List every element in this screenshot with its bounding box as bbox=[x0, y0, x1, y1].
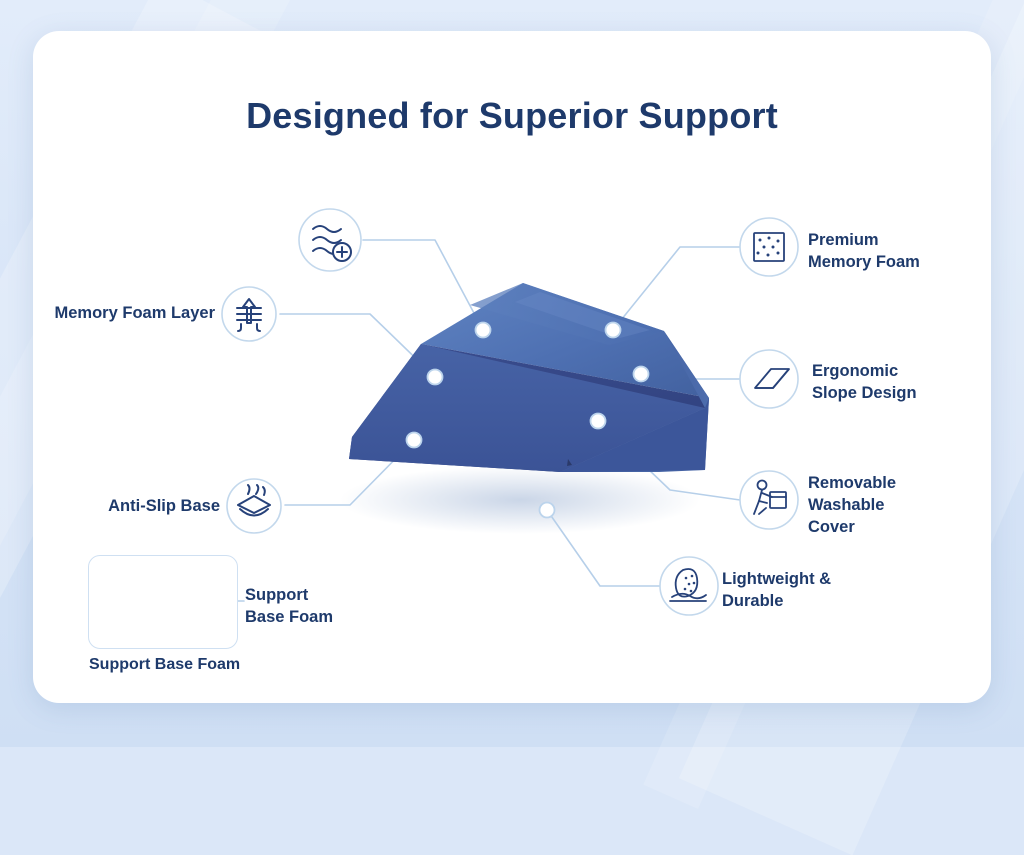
icon-badge-washable-cover bbox=[740, 471, 798, 529]
anchor-dot-premium-memory-foam bbox=[606, 323, 621, 338]
anchor-dot-washable-cover bbox=[591, 414, 606, 429]
infographic-stage: Designed for Superior Support bbox=[0, 0, 1024, 747]
icon-badge-premium-memory-foam bbox=[740, 218, 798, 276]
label-inset-callout: Support Base Foam bbox=[245, 585, 395, 629]
label-line: Removable bbox=[808, 473, 988, 495]
wedge-pillow-illustration bbox=[349, 283, 709, 472]
label-line: Cover bbox=[808, 517, 988, 539]
label-memory-foam-layer: Memory Foam Layer bbox=[40, 303, 215, 325]
anchor-dot-anti-slip-base bbox=[407, 433, 422, 448]
label-premium-memory-foam: Premium Memory Foam bbox=[808, 230, 988, 274]
label-line: Premium bbox=[808, 230, 988, 252]
icon-badge-ergonomic-slope bbox=[740, 350, 798, 408]
anchor-dot-breathability bbox=[476, 323, 491, 338]
anchor-dot-memory-foam-layer bbox=[428, 370, 443, 385]
label-line: Ergonomic bbox=[812, 361, 992, 383]
label-line: Lightweight & bbox=[722, 569, 922, 591]
support-base-foam-inset bbox=[88, 555, 238, 649]
caption-support-base-foam: Support Base Foam bbox=[89, 656, 240, 674]
label-line: Memory Foam bbox=[808, 252, 988, 274]
anchor-dot-lightweight-durable bbox=[540, 503, 555, 518]
connector-breathability bbox=[363, 240, 483, 330]
label-line: Support bbox=[245, 585, 395, 607]
label-line: Washable bbox=[808, 495, 988, 517]
label-washable-cover: Removable Washable Cover bbox=[808, 473, 988, 538]
anchor-dot-ergonomic-slope bbox=[634, 367, 649, 382]
icon-badge-anti-slip-base bbox=[227, 479, 281, 533]
connector-premium-memory-foam bbox=[613, 247, 740, 330]
label-anti-slip-base: Anti-Slip Base bbox=[80, 496, 220, 518]
icon-badge-lightweight-durable bbox=[660, 557, 718, 615]
label-line: Durable bbox=[722, 591, 922, 613]
label-ergonomic-slope: Ergonomic Slope Design bbox=[812, 361, 992, 405]
label-lightweight-durable: Lightweight & Durable bbox=[722, 569, 922, 613]
label-line: Base Foam bbox=[245, 607, 395, 629]
label-line: Slope Design bbox=[812, 383, 992, 405]
icon-badge-breathability bbox=[299, 209, 361, 271]
